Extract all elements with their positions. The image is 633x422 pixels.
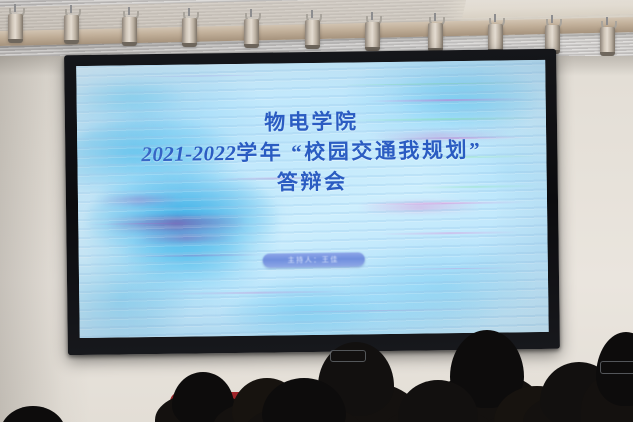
slide-year-range: 2021-2022 [141,141,236,166]
audience-head [0,406,66,422]
slide-presenter-badge: 主持人：王佳 [262,253,364,268]
slide-title-line-3: 答辩会 [78,164,547,201]
spotlight-can [122,17,137,44]
watercolor-blob [116,221,258,288]
spotlight-can [64,15,79,42]
spotlight-can [428,23,443,50]
magenta-streak [135,233,238,243]
display-screen: 物电学院 2021-2022学年 “校园交通我规划” 答辩会 主持人：王佳 [76,60,549,338]
eyeglasses-icon [600,361,633,374]
slide-title-block: 物电学院 2021-2022学年 “校园交通我规划” 答辩会 [77,103,547,200]
spotlight-can [8,14,23,41]
magenta-streak [359,202,481,212]
slide-title-line-2-rest: 学年 “校园交通我规划” [236,138,482,165]
spotlight-can [244,19,259,46]
presentation-display[interactable]: 物电学院 2021-2022学年 “校园交通我规划” 答辩会 主持人：王佳 [64,49,560,355]
spotlight-can [488,24,503,51]
spotlight-can [305,20,320,47]
spotlight-can [365,22,380,49]
spotlight-can [600,27,615,54]
eyeglasses-icon [330,350,366,362]
ceiling [0,0,633,56]
magenta-streak [106,216,247,231]
audience-foreground [0,312,633,422]
spotlight-can [182,18,197,45]
lecture-hall-photo: 物电学院 2021-2022学年 “校园交通我规划” 答辩会 主持人：王佳 [0,0,633,422]
